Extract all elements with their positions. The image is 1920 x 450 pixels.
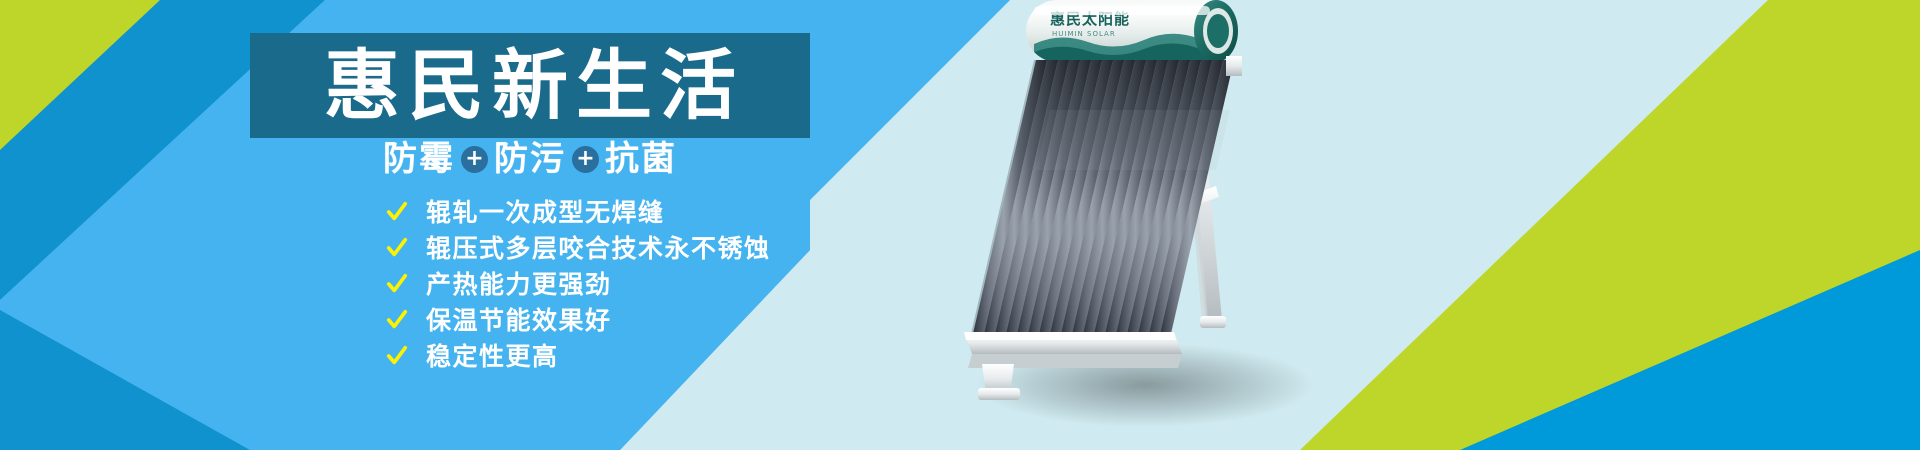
vacuum-tubes xyxy=(972,60,1234,338)
solar-water-heater-image: 惠民太阳能 HUIMIN SOLAR xyxy=(930,0,1350,450)
bottom-rail xyxy=(964,332,1182,368)
feature-item: 保温节能效果好 xyxy=(386,304,771,336)
feature-label: 产热能力更强劲 xyxy=(426,272,612,297)
subtitle-row: 防霉 + 防污 + 抗菌 xyxy=(250,142,810,176)
upper-frame-bracket xyxy=(1226,56,1242,76)
check-icon xyxy=(386,309,408,331)
feature-item: 稳定性更高 xyxy=(386,340,771,372)
feature-label: 稳定性更高 xyxy=(426,344,559,369)
check-icon xyxy=(386,237,408,259)
plus-icon-2: + xyxy=(572,146,599,173)
subtitle-word-1: 防霉 xyxy=(383,142,455,176)
check-icon xyxy=(386,273,408,295)
svg-text:HUIMIN SOLAR: HUIMIN SOLAR xyxy=(1052,30,1116,38)
check-icon xyxy=(386,201,408,223)
feature-list: 辊轧一次成型无焊缝 辊压式多层咬合技术永不锈蚀 产热能力更强劲 保温节能效果好 xyxy=(386,196,771,372)
vacuum-tube-array xyxy=(970,60,1234,338)
promo-banner: 惠民太阳能 HUIMIN SOLAR xyxy=(0,0,1920,450)
feature-label: 保温节能效果好 xyxy=(426,308,612,333)
feature-label: 辊轧一次成型无焊缝 xyxy=(426,200,665,225)
feature-label: 辊压式多层咬合技术永不锈蚀 xyxy=(426,236,771,261)
feature-item: 产热能力更强劲 xyxy=(386,268,771,300)
subtitle-word-2: 防污 xyxy=(494,142,566,176)
check-icon xyxy=(386,345,408,367)
feature-item: 辊压式多层咬合技术永不锈蚀 xyxy=(386,232,771,264)
title-box: 惠民新生活 xyxy=(250,33,810,138)
plus-icon-1: + xyxy=(461,146,488,173)
feature-item: 辊轧一次成型无焊缝 xyxy=(386,196,771,228)
storage-tank: 惠民太阳能 HUIMIN SOLAR xyxy=(1026,0,1248,64)
page-title: 惠民新生活 xyxy=(316,48,744,124)
subtitle-word-3: 抗菌 xyxy=(605,142,677,176)
